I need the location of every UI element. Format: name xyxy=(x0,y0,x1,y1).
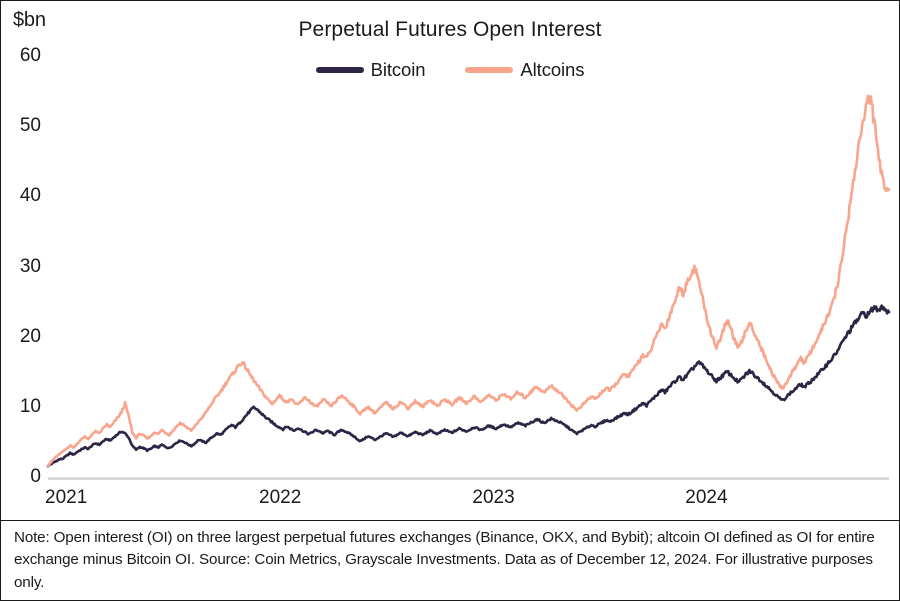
y-tick-label: 0 xyxy=(3,466,41,488)
x-axis: 2021202220232024 xyxy=(1,487,900,515)
y-tick-label: 30 xyxy=(3,256,41,278)
series-line-bitcoin xyxy=(48,306,889,467)
x-tick-label: 2022 xyxy=(259,487,301,509)
series-line-altcoins xyxy=(48,96,889,466)
chart-figure: $bn Perpetual Futures Open Interest Bitc… xyxy=(0,0,900,601)
footnote-divider xyxy=(1,520,899,521)
y-tick-label: 60 xyxy=(3,45,41,67)
series-canvas xyxy=(48,46,889,477)
footnote-text: Note: Open interest (OI) on three larges… xyxy=(14,527,886,594)
x-axis-line xyxy=(48,477,889,480)
x-tick-label: 2024 xyxy=(685,487,727,509)
y-tick-label: 50 xyxy=(3,115,41,137)
plot-area xyxy=(48,46,889,477)
y-tick-label: 40 xyxy=(3,185,41,207)
x-tick-label: 2023 xyxy=(472,487,514,509)
chart-title: Perpetual Futures Open Interest xyxy=(1,18,899,42)
x-tick-label: 2021 xyxy=(45,487,87,509)
y-tick-label: 20 xyxy=(3,326,41,348)
y-tick-label: 10 xyxy=(3,396,41,418)
